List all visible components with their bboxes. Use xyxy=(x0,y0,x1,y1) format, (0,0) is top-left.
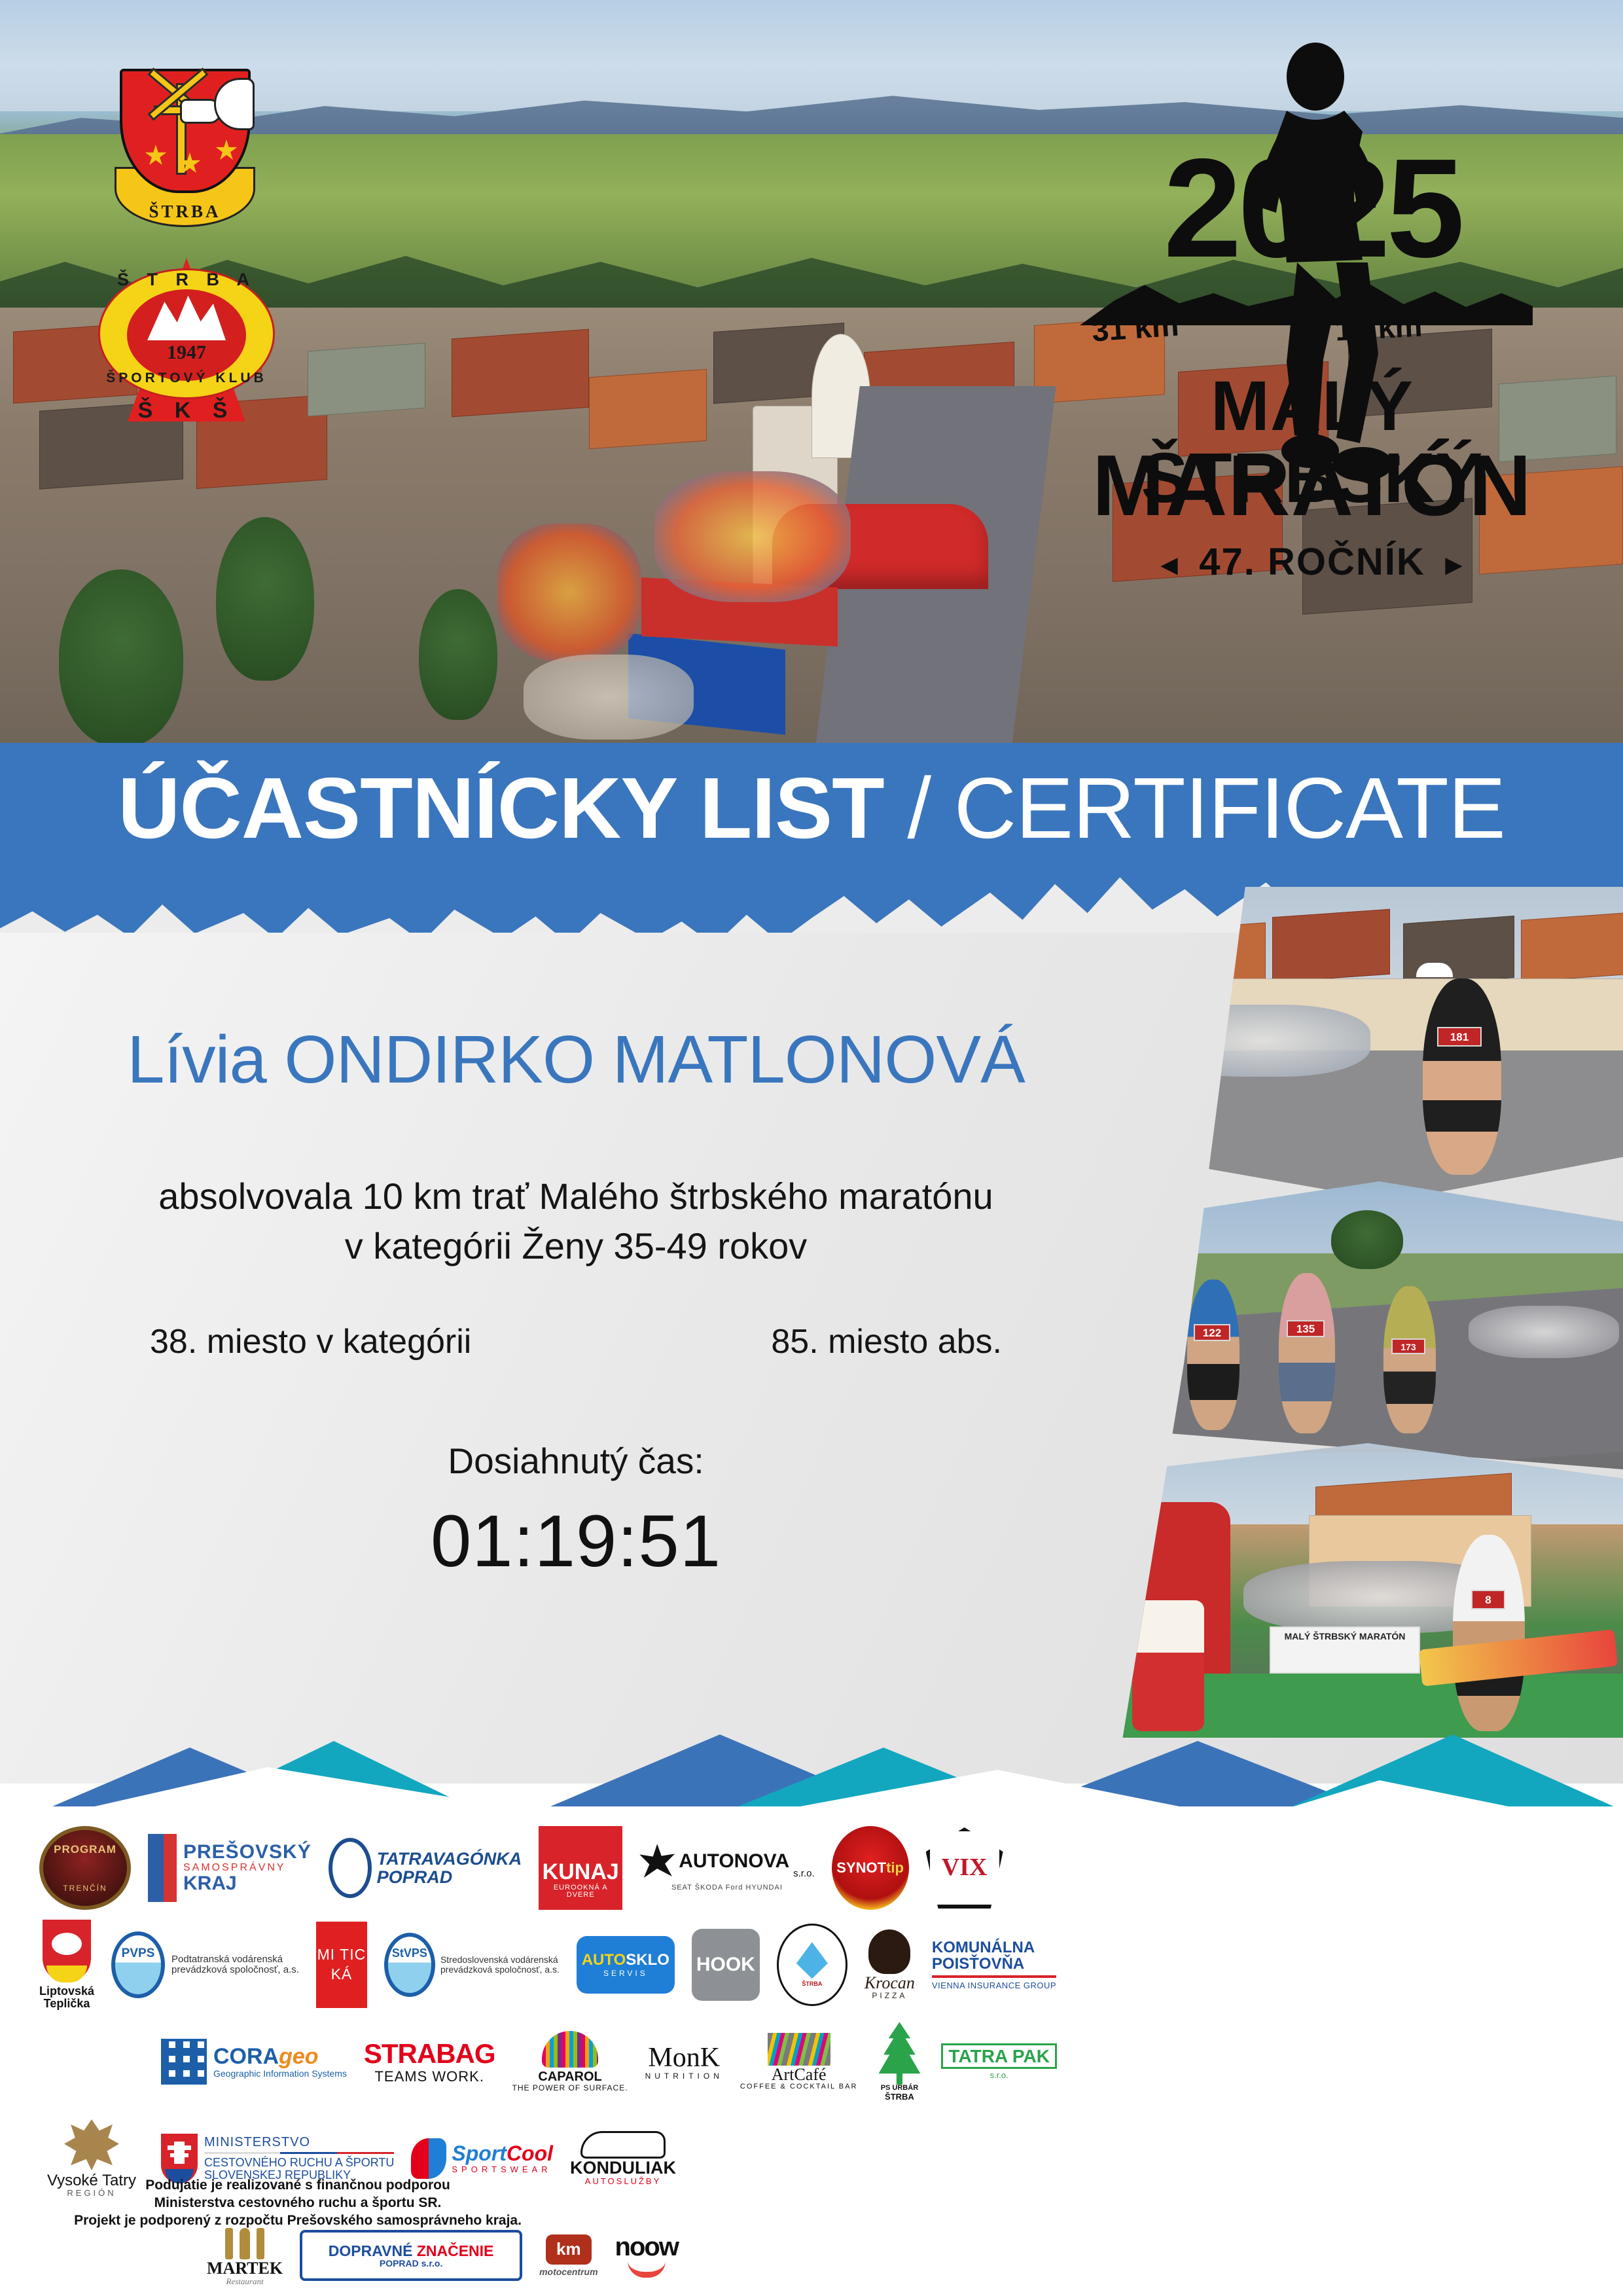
sub-label: SAMOSPRÁVNY xyxy=(183,1863,312,1874)
sub-label-2: VIENNA INSURANCE GROUP xyxy=(932,1981,1056,1990)
car-brands-label: SEAT ŠKODA Ford HYUNDAI xyxy=(671,1884,783,1892)
funding-note: Podujatie je realizované s finančnou pod… xyxy=(39,2176,556,2229)
sub-label: COFFEE & COCKTAIL BAR xyxy=(740,2083,858,2091)
sub-label: POISŤOVŇA xyxy=(932,1956,1024,1972)
place-in-category: 38. miesto v kategórii xyxy=(150,1322,471,1361)
label: MonK xyxy=(648,2043,720,2072)
sponsor-hook: HOOK xyxy=(692,1929,760,2001)
bib-number: 135 xyxy=(1287,1320,1325,1337)
sponsor-martek: MARTEK Restaurant xyxy=(207,2225,283,2286)
label: ArtCafé xyxy=(772,2066,827,2083)
emblem-top-text: Š T R B A xyxy=(98,270,275,290)
place-absolute: 85. miesto abs. xyxy=(771,1322,1002,1361)
sponsor-row: PROGRAM TRENČÍN PREŠOVSKÝ SAMOSPRÁVNY KR… xyxy=(39,1820,1119,1916)
participant-description: absolvovala 10 km trať Malého štrbského … xyxy=(0,1172,1152,1271)
sportcool-mark-icon xyxy=(411,2138,446,2179)
sub-label: ŠTRBA xyxy=(885,2092,914,2102)
sub-label: CESTOVNÉHO RUCHU A ŠPORTU xyxy=(204,2157,394,2169)
crest-town-label: ŠTRBA xyxy=(116,202,253,222)
page-title: ÚČASTNÍCKY LIST / CERTIFICATE xyxy=(0,759,1623,857)
label: SYNOT xyxy=(836,1859,886,1876)
sks-club-emblem: Š T R B A 1947 ŠPORTOVÝ KLUB Š K Š xyxy=(98,242,275,429)
page-title-sk: ÚČASTNÍCKY LIST xyxy=(118,760,884,856)
label: noow xyxy=(615,2233,678,2261)
sponsor-sportcool: SportCool SPORTSWEAR xyxy=(411,2138,553,2179)
emblem-bottom-text: Š K Š xyxy=(98,398,275,423)
sub-label: AUTOSLUŽBY xyxy=(585,2177,661,2186)
sub-label: Stredoslovenská vodárenská xyxy=(440,1955,560,1965)
sub-label: s.r.o. xyxy=(793,1869,815,1879)
sub-label: POPRAD s.r.o. xyxy=(380,2259,442,2269)
sub-label: PIZZA xyxy=(872,1992,907,2000)
description-line-1: absolvovala 10 km trať Malého štrbského … xyxy=(0,1172,1152,1221)
emblem-arc-text: ŠPORTOVÝ KLUB xyxy=(98,370,275,386)
label: PREŠOVSKÝ xyxy=(183,1842,312,1863)
label: MARTEK xyxy=(207,2259,283,2277)
smile-icon xyxy=(628,2261,666,2278)
sponsor-caparol: CAPAROL THE POWER OF SURFACE. xyxy=(512,2031,628,2092)
sponsor-monk-nutrition: MonK NUTRITION xyxy=(645,2043,723,2081)
event-title-line2: MARATÓN xyxy=(1054,442,1571,529)
time-label: Dosiahnutý čas: xyxy=(0,1440,1152,1482)
sponsor-liptovska-teplicka: Liptovská Teplička xyxy=(39,1920,94,2010)
sub-label: EUROOKNÁ A DVERE xyxy=(539,1884,622,1899)
sponsor-strabag: STRABAG TEAMS WORK. xyxy=(364,2039,495,2083)
sponsor-ps-urbar-strba: PS URBÁR ŠTRBA xyxy=(874,2022,924,2101)
sponsor-km-motocentrum: km motocentrum xyxy=(539,2234,597,2277)
sub-label: TRENČÍN xyxy=(63,1884,107,1893)
sub-label: NUTRITION xyxy=(645,2072,723,2081)
sponsor-dopravne-znacenie: DOPRAVNÉ ZNAČENIE POPRAD s.r.o. xyxy=(300,2230,522,2281)
sub-label: Restaurant xyxy=(226,2277,264,2286)
label: MINISTERSTVO xyxy=(204,2136,394,2149)
sub-label: motocentrum xyxy=(539,2267,597,2277)
label: km xyxy=(556,2240,581,2258)
participant-name: Lívia ONDIRKO MATLONOVÁ xyxy=(0,1021,1152,1098)
sub-label: ŠTRBA xyxy=(802,1981,822,1987)
caparol-elephant-icon xyxy=(542,2031,598,2068)
event-edition: ◄47. ROČNÍK► xyxy=(1054,540,1571,584)
crest-shield xyxy=(120,69,251,193)
sponsor-noow: noow xyxy=(615,2233,678,2278)
sponsor-komunalna-poistovna: KOMUNÁLNA POISŤOVŇA VIENNA INSURANCE GRO… xyxy=(932,1939,1056,1990)
hero-aerial-photo: ŠTRBA Š T R B A 1947 ŠPORTOVÝ KLUB xyxy=(0,0,1623,746)
bib-number: 8 xyxy=(1471,1590,1505,1609)
bib-number: 173 xyxy=(1391,1338,1425,1354)
label: PROGRAM xyxy=(54,1844,116,1856)
label: HOOK xyxy=(696,1954,755,1975)
knife-icon xyxy=(257,2228,264,2259)
sub-label: s.r.o. xyxy=(990,2071,1008,2080)
bib-number: 122 xyxy=(1194,1324,1230,1341)
sponsor-konduliak: KONDULIAK AUTOSLUŽBY xyxy=(570,2131,676,2186)
cora-grid-icon xyxy=(161,2039,207,2085)
label: KONDULIAK xyxy=(570,2159,676,2177)
time-value: 01:19:51 xyxy=(0,1499,1152,1583)
sponsor-autosklo: AUTOSKLO SERVIS xyxy=(577,1936,675,1994)
label: StVPS xyxy=(392,1947,427,1960)
sponsor-kunaj: KUNAJ EUROOKNÁ A DVERE xyxy=(539,1826,622,1910)
spoon-icon xyxy=(240,2228,250,2259)
label: KOMUNÁLNA xyxy=(932,1939,1035,1956)
funding-note-line-1: Podujatie je realizované s finančnou pod… xyxy=(39,2176,556,2194)
finish-banner: MALÝ ŠTRBSKÝ MARATÓN xyxy=(1270,1626,1420,1674)
sponsor-pvps: PVPS Podtatranská vodárenská prevádzková… xyxy=(111,1931,299,1998)
photo-finish-line: MALÝ ŠTRBSKÝ MARATÓN 8 xyxy=(1113,1443,1623,1738)
label: KUNAJ xyxy=(543,1861,619,1884)
sponsor-stvps: StVPS Stredoslovenská vodárenská prevádz… xyxy=(384,1933,560,1997)
tatravagonka-mark-icon xyxy=(329,1838,372,1898)
burst-icon xyxy=(639,1844,675,1879)
sponsor-tatrapak: TATRA PAK s.r.o. xyxy=(941,2043,1057,2080)
car-outline-icon xyxy=(580,2131,666,2159)
spruce-tree-icon xyxy=(874,2022,924,2085)
label: Krocan xyxy=(865,1974,915,1992)
description-line-2: v kategórii Ženy 35-49 rokov xyxy=(0,1221,1152,1271)
funding-note-line-3: Projekt je podporený z rozpočtu Prešovsk… xyxy=(39,2212,556,2229)
distance-31km: 31 km xyxy=(1090,306,1180,348)
sponsor-miticka: MI TIC KÁ xyxy=(316,1922,367,2008)
sponsor-pd-strba: ŠTRBA xyxy=(777,1924,847,2006)
sponsor-row: Liptovská Teplička PVPS Podtatranská vod… xyxy=(39,1916,1119,2013)
sub-label: Geographic Information Systems xyxy=(213,2069,347,2079)
sub-label: SERVIS xyxy=(603,1969,648,1978)
certificate-page: ŠTRBA Š T R B A 1947 ŠPORTOVÝ KLUB xyxy=(0,0,1623,2296)
sub-label: Podtatranská vodárenská xyxy=(171,1954,299,1965)
artcafe-mark-icon xyxy=(768,2033,830,2066)
label: MI TIC KÁ xyxy=(316,1945,367,1984)
emblem-year: 1947 xyxy=(98,342,275,364)
sponsor-synottip: SYNOTtip xyxy=(832,1826,909,1910)
sub-label: SPORTSWEAR xyxy=(452,2165,553,2174)
sponsor-program-trencin: PROGRAM TRENČÍN xyxy=(39,1826,131,1910)
lt-crest-icon xyxy=(43,1920,91,1982)
event-logo: 2025 31 km 10 km MALÝ ŠTRBSKÝ MARATÓN xyxy=(1054,36,1571,612)
sub-label: TEAMS WORK. xyxy=(374,2069,484,2084)
label: Liptovská xyxy=(39,1985,94,1998)
label: TATRAVAGÓNKA xyxy=(377,1850,522,1868)
sub-label: POPRAD xyxy=(377,1868,522,1886)
label: AUTONOVA xyxy=(679,1851,789,1872)
label: TATRA PAK xyxy=(941,2043,1057,2069)
funding-note-line-2: Ministerstva cestovného ruchu a športu S… xyxy=(39,2194,556,2212)
label: CAPAROL xyxy=(538,2070,601,2084)
sub-label-2: KRAJ xyxy=(183,1873,312,1894)
turkey-icon xyxy=(868,1929,910,1974)
sponsor-artcafe: ArtCafé COFFEE & COCKTAIL BAR xyxy=(740,2033,858,2091)
page-title-en: / CERTIFICATE xyxy=(884,760,1505,856)
sponsor-vix: VIX xyxy=(926,1827,1003,1909)
sub-label-2: prevádzková spoločnosť, a.s. xyxy=(171,1965,299,1975)
label: VIX xyxy=(942,1855,988,1881)
edelweiss-icon xyxy=(64,2119,119,2170)
label: PVPS xyxy=(122,1947,155,1960)
fork-icon xyxy=(225,2228,233,2259)
label: STRABAG xyxy=(364,2039,495,2068)
sponsor-row: CORAgeo Geographic Information Systems S… xyxy=(39,2013,1119,2110)
strba-town-crest: ŠTRBA xyxy=(115,69,255,232)
waterdrop-icon xyxy=(796,1942,828,1979)
sponsor-presovsky-kraj: PREŠOVSKÝ SAMOSPRÁVNY KRAJ xyxy=(148,1834,312,1902)
sub-label: tip xyxy=(886,1859,904,1876)
sponsor-autonova: AUTONOVA s.r.o. SEAT ŠKODA Ford HYUNDAI xyxy=(639,1844,814,1892)
psk-mark-icon xyxy=(148,1834,177,1902)
placement-row: 38. miesto v kategórii 85. miesto abs. xyxy=(0,1322,1152,1361)
sponsor-tatravagonka: TATRAVAGÓNKA POPRAD xyxy=(329,1838,522,1898)
sub-label: THE POWER OF SURFACE. xyxy=(512,2084,628,2092)
sub-label: Teplička xyxy=(44,1998,90,2010)
sub-label-2: prevádzková spoločnosť, a.s. xyxy=(440,1965,560,1975)
distance-10km: 10 km xyxy=(1334,308,1423,348)
sponsor-corageo: CORAgeo Geographic Information Systems xyxy=(161,2039,347,2085)
sponsor-krocan-pizza: Krocan PIZZA xyxy=(865,1929,915,2000)
bib-number: 181 xyxy=(1437,1027,1482,1047)
